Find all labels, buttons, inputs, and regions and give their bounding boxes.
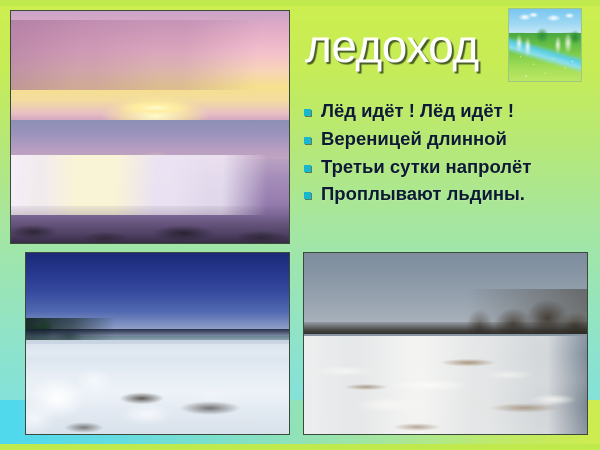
square-bullet-icon [304,109,311,116]
square-bullet-icon [304,137,311,144]
presentation-slide: ледоход Лёд идёт ! Лёд идёт ! Вереницей … [0,0,600,450]
bullet-list: Лёд идёт ! Лёд идёт ! Вереницей длинной … [304,100,596,211]
shore-wet-stones [26,380,289,434]
square-bullet-icon [304,165,311,172]
river-silt-streaks [304,347,587,434]
list-item-label: Проплывают льдины. [321,183,525,205]
list-item[interactable]: Вереницей длинной [304,128,596,150]
slide-title: ледоход [305,22,505,70]
image-blue-sky-frozen-shoreline[interactable] [25,252,290,435]
image-spring-landscape-clipart[interactable] [508,8,582,82]
list-item-label: Третьи сутки напролёт [321,156,531,178]
list-item-label: Вереницей длинной [321,128,507,150]
square-bullet-icon [304,192,311,199]
list-item-label: Лёд идёт ! Лёд идёт ! [321,100,514,122]
sunset-foreground-rocks [11,206,289,243]
list-item[interactable]: Лёд идёт ! Лёд идёт ! [304,100,596,122]
image-river-ice-drift-bare-trees[interactable] [303,252,588,435]
image-pink-sunset-over-drifting-ice[interactable] [10,10,290,244]
clipart-flowers [509,46,581,81]
sunset-cloud-band [11,20,289,90]
list-item[interactable]: Проплывают льдины. [304,183,596,205]
list-item[interactable]: Третьи сутки напролёт [304,156,596,178]
